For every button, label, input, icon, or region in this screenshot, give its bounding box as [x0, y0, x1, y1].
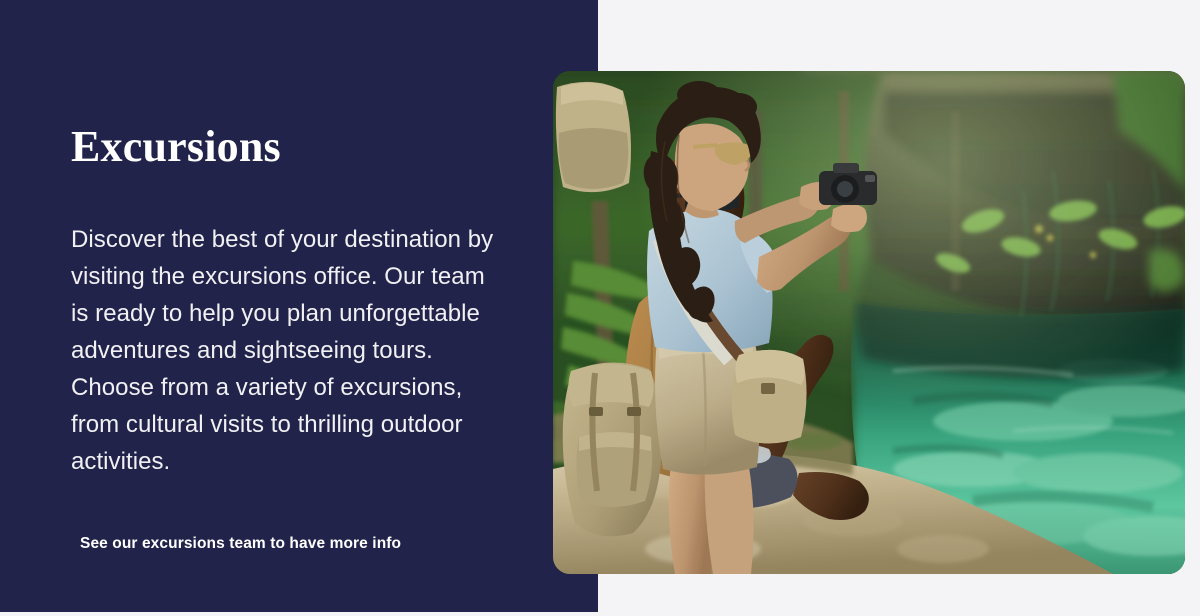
excursions-page: Excursions Discover the best of your des… [0, 0, 1200, 616]
panel-content: Excursions Discover the best of your des… [71, 0, 511, 612]
cenote-jungle-photo [553, 71, 1185, 574]
panel-body-text: Discover the best of your destination by… [71, 221, 501, 480]
navy-text-panel: Excursions Discover the best of your des… [0, 0, 598, 612]
excursion-photo-card [553, 71, 1185, 574]
page-title: Excursions [71, 121, 281, 173]
excursions-team-link[interactable]: See our excursions team to have more inf… [80, 533, 401, 555]
